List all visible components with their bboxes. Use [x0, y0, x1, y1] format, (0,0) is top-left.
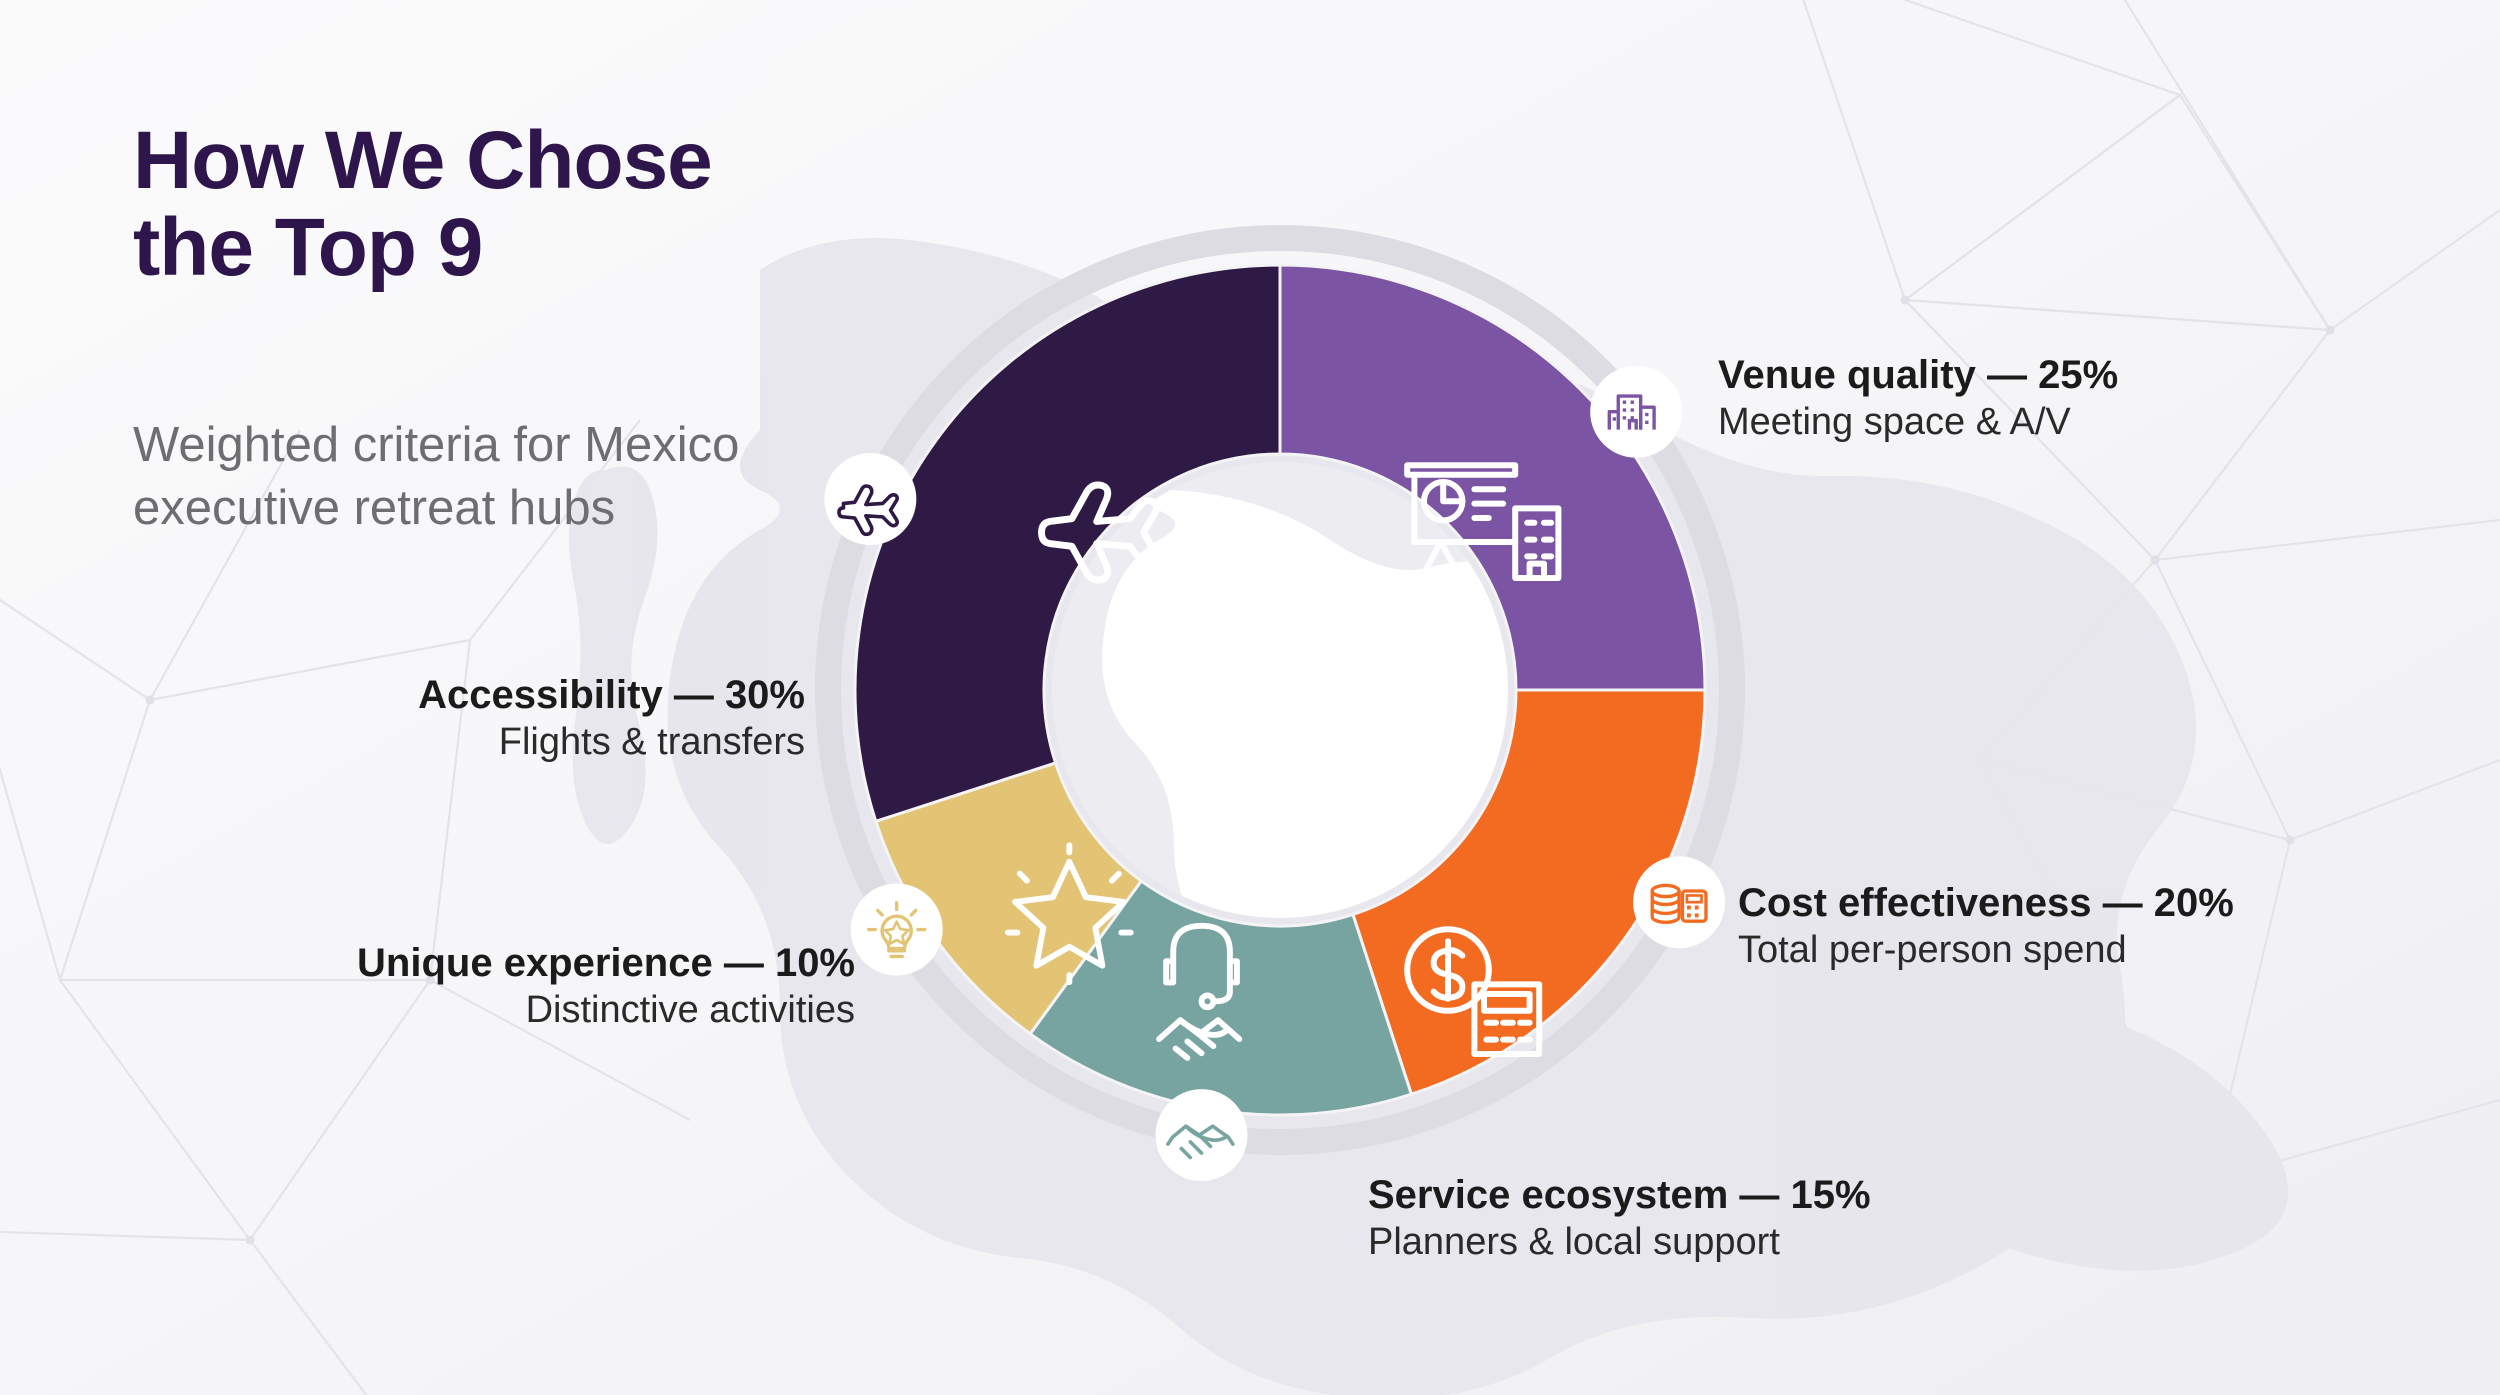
- badge-accessibility[interactable]: [824, 453, 916, 545]
- callout-service-ecosystem: Service ecosystem — 15% Planners & local…: [1368, 1172, 1871, 1266]
- callout-venue-quality: Venue quality — 25% Meeting space & A/V: [1718, 352, 2118, 446]
- callout-accessibility-title: Accessibility — 30%: [0, 672, 805, 719]
- callout-unique-experience-desc: Distinctive activities: [0, 987, 855, 1033]
- callout-venue-quality-title: Venue quality — 25%: [1718, 352, 2118, 399]
- callout-cost-effectiveness-desc: Total per-person spend: [1738, 927, 2234, 973]
- callout-cost-effectiveness-title: Cost effectiveness — 20%: [1738, 880, 2234, 927]
- callout-venue-quality-desc: Meeting space & A/V: [1718, 399, 2118, 445]
- badge-circle: [1590, 366, 1682, 458]
- donut-chart: [800, 210, 1760, 1170]
- callout-accessibility: Accessibility — 30% Flights & transfers: [0, 672, 805, 766]
- callout-service-ecosystem-desc: Planners & local support: [1368, 1219, 1871, 1265]
- callout-unique-experience-title: Unique experience — 10%: [0, 940, 855, 987]
- badge-cost[interactable]: [1633, 856, 1725, 948]
- badge-venue[interactable]: [1590, 366, 1682, 458]
- badge-service[interactable]: [1156, 1089, 1248, 1181]
- headline-line-1: How We Chose: [133, 115, 712, 206]
- callout-unique-experience: Unique experience — 10% Distinctive acti…: [0, 940, 855, 1034]
- infographic-canvas: How We Chose the Top 9 Weighted criteria…: [0, 0, 2500, 1395]
- callout-cost-effectiveness: Cost effectiveness — 20% Total per-perso…: [1738, 880, 2234, 974]
- badge-unique[interactable]: [851, 884, 943, 976]
- page-subtitle: Weighted criteria for Mexico executive r…: [133, 414, 753, 539]
- badge-circle: [851, 884, 943, 976]
- callout-accessibility-desc: Flights & transfers: [0, 719, 805, 765]
- callout-service-ecosystem-title: Service ecosystem — 15%: [1368, 1172, 1871, 1219]
